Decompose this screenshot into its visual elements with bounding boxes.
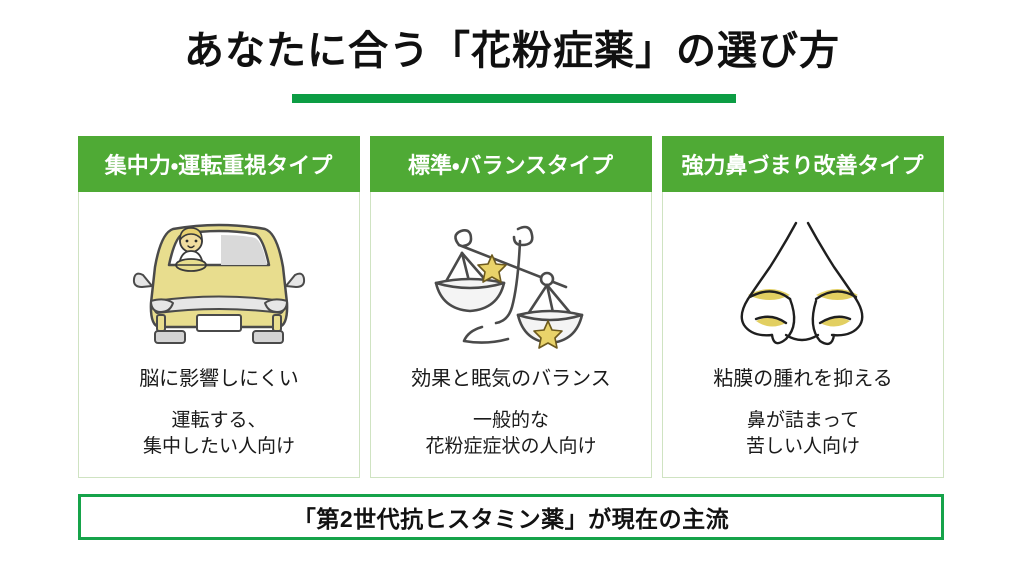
card-concentration-driving[interactable]: 集中力・運転重視タイプ [78, 136, 360, 478]
card-sub-line2: 苦しい人向け [746, 434, 860, 460]
car-with-driver-icon [129, 206, 309, 356]
card-nasal-congestion[interactable]: 強力鼻づまり改善タイプ [662, 136, 944, 478]
infographic-page: あなたに合う「花粉症薬」の選び方 集中力・運転重視タイプ [0, 0, 1024, 576]
page-title-block: あなたに合う「花粉症薬」の選び方 [0, 26, 1024, 76]
card-header-standard-balance: 標準・バランスタイプ [370, 136, 652, 192]
type-cards-row: 集中力・運転重視タイプ [78, 136, 944, 478]
card-lead-concentration-driving: 脳に影響しにくい [139, 366, 299, 392]
card-body-concentration-driving: 脳に影響しにくい 運転する、 集中したい人向け [79, 356, 359, 477]
card-lead-nasal-congestion: 粘膜の腫れを抑える [713, 366, 892, 392]
card-sub-line1: 運転する、 [143, 408, 295, 434]
card-header-concentration-driving: 集中力・運転重視タイプ [78, 136, 360, 192]
card-standard-balance[interactable]: 標準・バランスタイプ [370, 136, 652, 478]
card-header-nasal-congestion: 強力鼻づまり改善タイプ [662, 136, 944, 192]
card-sub-line2: 花粉症症状の人向け [425, 434, 596, 460]
footer-banner: 「第2世代抗ヒスタミン薬」が現在の主流 [78, 494, 944, 540]
card-body-standard-balance: 効果と眠気のバランス 一般的な 花粉症症状の人向け [371, 356, 651, 477]
nose-icon [708, 206, 898, 356]
card-sub-concentration-driving: 運転する、 集中したい人向け [143, 408, 295, 459]
card-body-nasal-congestion: 粘膜の腫れを抑える 鼻が詰まって 苦しい人向け [663, 356, 943, 477]
card-sub-line2: 集中したい人向け [143, 434, 295, 460]
card-sub-standard-balance: 一般的な 花粉症症状の人向け [425, 408, 596, 459]
title-underline-rule [292, 94, 736, 103]
card-lead-standard-balance: 効果と眠気のバランス [411, 366, 611, 392]
balance-scales-icon [426, 206, 596, 356]
footer-banner-text: 「第2世代抗ヒスタミン薬」が現在の主流 [293, 500, 729, 534]
card-sub-nasal-congestion: 鼻が詰まって 苦しい人向け [746, 408, 860, 459]
card-sub-line1: 鼻が詰まって [746, 408, 860, 434]
page-title: あなたに合う「花粉症薬」の選び方 [0, 26, 1024, 76]
card-sub-line1: 一般的な [425, 408, 596, 434]
